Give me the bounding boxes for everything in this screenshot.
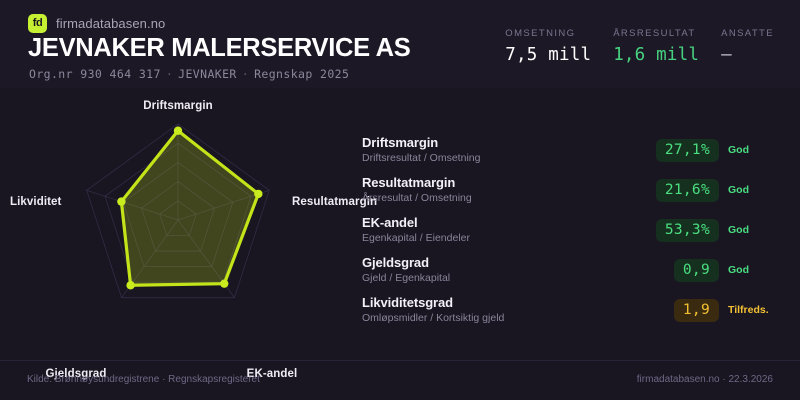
header-kpi-group: OMSETNING 7,5 mill ÅRSRESULTAT 1,6 mill …: [505, 28, 774, 65]
kpi-arsresultat-value: 1,6 mill: [613, 45, 699, 65]
company-place: JEVNAKER: [178, 67, 237, 81]
kpi-ansatte-value: –: [721, 45, 774, 65]
kpi-omsetning-label: OMSETNING: [505, 28, 591, 39]
metric-formula: Omløpsmidler / Kortsiktig gjeld: [362, 311, 648, 325]
footer-divider: [0, 360, 800, 361]
footer-site-date: firmadatabasen.no · 22.3.2026: [637, 374, 773, 385]
company-fiscal-year: Regnskap 2025: [254, 67, 349, 81]
metric-value-block: 53,3% God: [648, 219, 780, 242]
metric-value-block: 27,1% God: [648, 139, 780, 162]
metric-title: Resultatmargin: [362, 175, 648, 190]
metric-rating: God: [728, 264, 780, 276]
brand-name: firmadatabasen.no: [56, 16, 165, 31]
metric-text-block: EK-andel Egenkapital / Eiendeler: [362, 215, 648, 245]
metric-title: Gjeldsgrad: [362, 255, 648, 270]
metric-title: Likviditetsgrad: [362, 295, 648, 310]
footer-source: Kilde: Brønnøysundregistrene · Regnskaps…: [27, 374, 260, 385]
metric-rating: God: [728, 224, 780, 236]
metric-value-badge: 0,9: [674, 259, 719, 282]
meta-separator-1: ·: [161, 67, 178, 81]
kpi-ansatte-label: ANSATTE: [721, 28, 774, 39]
metric-row-gjeldsgrad[interactable]: Gjeldsgrad Gjeld / Egenkapital 0,9 God: [362, 250, 780, 290]
metric-formula: Driftsresultat / Omsetning: [362, 151, 648, 165]
radar-axis-label-driftsmargin: Driftsmargin: [143, 100, 213, 112]
metric-value-badge: 1,9: [674, 299, 719, 322]
metric-value-block: 21,6% God: [648, 179, 780, 202]
metric-formula: Årsresultat / Omsetning: [362, 191, 648, 205]
report-card: fd firmadatabasen.no JEVNAKER MALERSERVI…: [0, 0, 800, 400]
metric-row-driftsmargin[interactable]: Driftsmargin Driftsresultat / Omsetning …: [362, 130, 780, 170]
metric-rating: Tilfreds.: [728, 304, 780, 316]
metric-row-likviditetsgrad[interactable]: Likviditetsgrad Omløpsmidler / Kortsikti…: [362, 290, 780, 330]
metric-row-ek-andel[interactable]: EK-andel Egenkapital / Eiendeler 53,3% G…: [362, 210, 780, 250]
metric-formula: Egenkapital / Eiendeler: [362, 231, 648, 245]
metric-rating: God: [728, 184, 780, 196]
metric-list: Driftsmargin Driftsresultat / Omsetning …: [362, 130, 780, 330]
metric-value-block: 1,9 Tilfreds.: [648, 299, 780, 322]
metric-value-badge: 27,1%: [656, 139, 719, 162]
firmadatabasen-logo-icon: fd: [28, 14, 47, 33]
company-meta: Org.nr 930 464 317·JEVNAKER·Regnskap 202…: [29, 67, 349, 81]
metric-formula: Gjeld / Egenkapital: [362, 271, 648, 285]
kpi-arsresultat: ÅRSRESULTAT 1,6 mill: [613, 28, 699, 65]
metric-row-resultatmargin[interactable]: Resultatmargin Årsresultat / Omsetning 2…: [362, 170, 780, 210]
kpi-omsetning-value: 7,5 mill: [505, 45, 591, 65]
brand-logo[interactable]: fd firmadatabasen.no: [28, 14, 165, 33]
metric-title: EK-andel: [362, 215, 648, 230]
metric-text-block: Likviditetsgrad Omløpsmidler / Kortsikti…: [362, 295, 648, 325]
metric-value-badge: 21,6%: [656, 179, 719, 202]
metric-text-block: Resultatmargin Årsresultat / Omsetning: [362, 175, 648, 205]
metric-value-block: 0,9 God: [648, 259, 780, 282]
metric-text-block: Gjeldsgrad Gjeld / Egenkapital: [362, 255, 648, 285]
kpi-ansatte: ANSATTE –: [721, 28, 774, 65]
metric-title: Driftsmargin: [362, 135, 648, 150]
metric-rating: God: [728, 144, 780, 156]
radar-axis-label-likviditet: Likviditet: [10, 196, 60, 208]
kpi-arsresultat-label: ÅRSRESULTAT: [613, 28, 699, 39]
radar-chart-svg: [10, 92, 360, 342]
metric-text-block: Driftsmargin Driftsresultat / Omsetning: [362, 135, 648, 165]
meta-separator-2: ·: [237, 67, 254, 81]
radar-chart: Driftsmargin Resultatmargin EK-andel Gje…: [10, 92, 360, 342]
kpi-omsetning: OMSETNING 7,5 mill: [505, 28, 591, 65]
company-orgnr: Org.nr 930 464 317: [29, 67, 161, 81]
page-title: JEVNAKER MALERSERVICE AS: [28, 34, 410, 63]
metric-value-badge: 53,3%: [656, 219, 719, 242]
